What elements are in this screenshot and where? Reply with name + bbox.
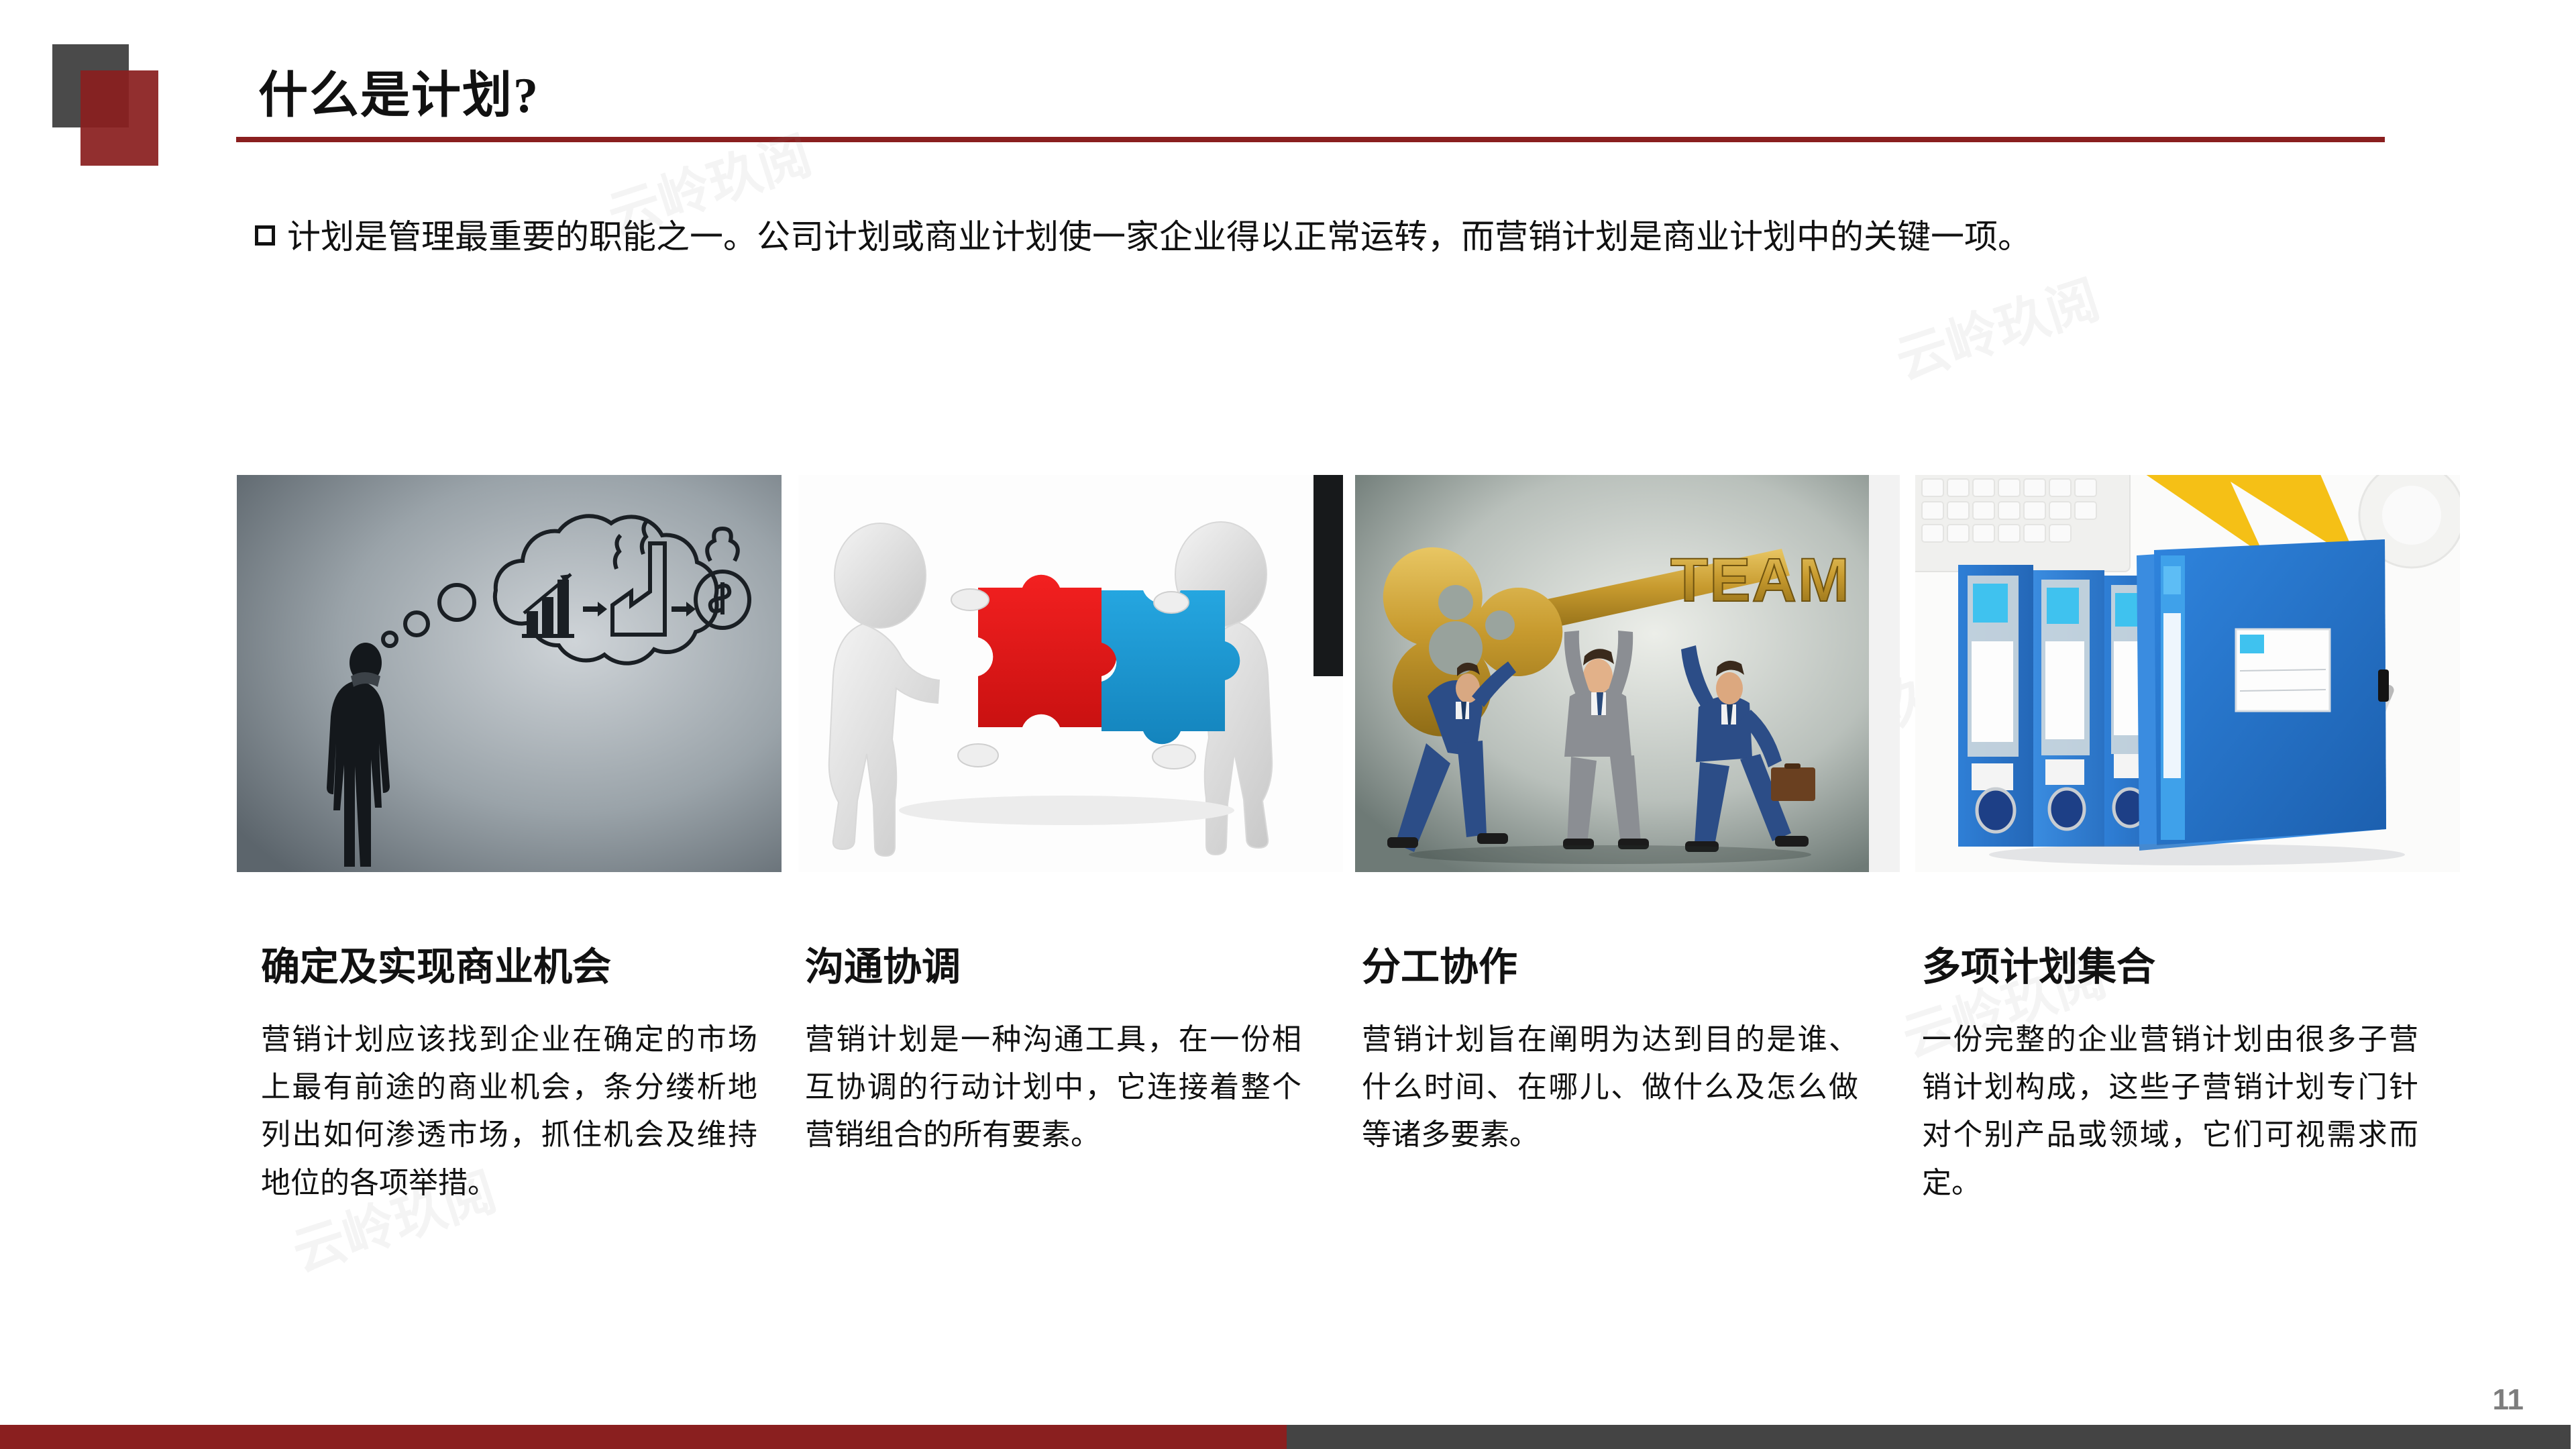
thumbnail-blue-file-folders[interactable] (1915, 475, 2460, 872)
watermark: 云岭玖阅 (1885, 258, 2107, 394)
slide-canvas: 什么是计划? 计划是管理最重要的职能之一。公司计划或商业计划使一家企业得以正常运… (0, 0, 2576, 1449)
column-heading: 多项计划集合 (1922, 946, 2460, 989)
content-column: TEAM (1355, 475, 1900, 1159)
thumbnail-businesswoman-thought-bubble[interactable] (237, 475, 782, 872)
content-columns: 确定及实现商业机会 营销计划应该找到企业在确定的市场上最有前途的商业机会，条分缕… (0, 475, 2576, 1347)
hollow-square-bullet-icon (255, 225, 275, 246)
title-underline-rule (236, 137, 2385, 142)
lead-bullet-text: 计划是管理最重要的职能之一。公司计划或商业计划使一家企业得以正常运转，而营销计划… (287, 216, 2031, 258)
blue-file-folders-illustration (1915, 475, 2460, 872)
thumbnail-puzzle-teamwork[interactable] (798, 475, 1343, 872)
column-body-text: 一份完整的企业营销计划由很多子营销计划构成，这些子营销计划专门针对个别产品或领域… (1922, 1016, 2418, 1207)
lead-bullet-row: 计划是管理最重要的职能之一。公司计划或商业计划使一家企业得以正常运转，而营销计划… (255, 216, 2435, 258)
footer-bar-red (0, 1425, 1287, 1449)
column-body-text: 营销计划旨在阐明为达到目的是谁、什么时间、在哪儿、做什么及怎么做等诸多要素。 (1362, 1016, 1858, 1159)
content-column: 确定及实现商业机会 营销计划应该找到企业在确定的市场上最有前途的商业机会，条分缕… (237, 475, 782, 1207)
puzzle-pieces-handshake-illustration (798, 475, 1343, 872)
column-heading: 分工协作 (1362, 946, 1900, 989)
page-title: 什么是计划? (258, 55, 539, 127)
column-heading: 确定及实现商业机会 (261, 946, 782, 989)
team-golden-key-illustration: TEAM (1355, 475, 1900, 872)
key-team-label: TEAM (1670, 546, 1851, 614)
thumbnail-team-golden-key[interactable]: TEAM (1355, 475, 1900, 872)
footer-bar-gray (1287, 1425, 2571, 1449)
column-body-text: 营销计划是一种沟通工具，在一份相互协调的行动计划中，它连接着整个营销组合的所有要… (805, 1016, 1301, 1159)
content-column: 沟通协调 营销计划是一种沟通工具，在一份相互协调的行动计划中，它连接着整个营销组… (798, 475, 1343, 1159)
content-column: 多项计划集合 一份完整的企业营销计划由很多子营销计划构成，这些子营销计划专门针对… (1915, 475, 2460, 1207)
column-body-text: 营销计划应该找到企业在确定的市场上最有前途的商业机会，条分缕析地列出如何渗透市场… (261, 1016, 757, 1207)
decor-square-red (80, 70, 158, 166)
page-number: 11 (2492, 1383, 2524, 1417)
column-heading: 沟通协调 (805, 946, 1343, 989)
businesswoman-thought-bubble-illustration (237, 475, 782, 872)
